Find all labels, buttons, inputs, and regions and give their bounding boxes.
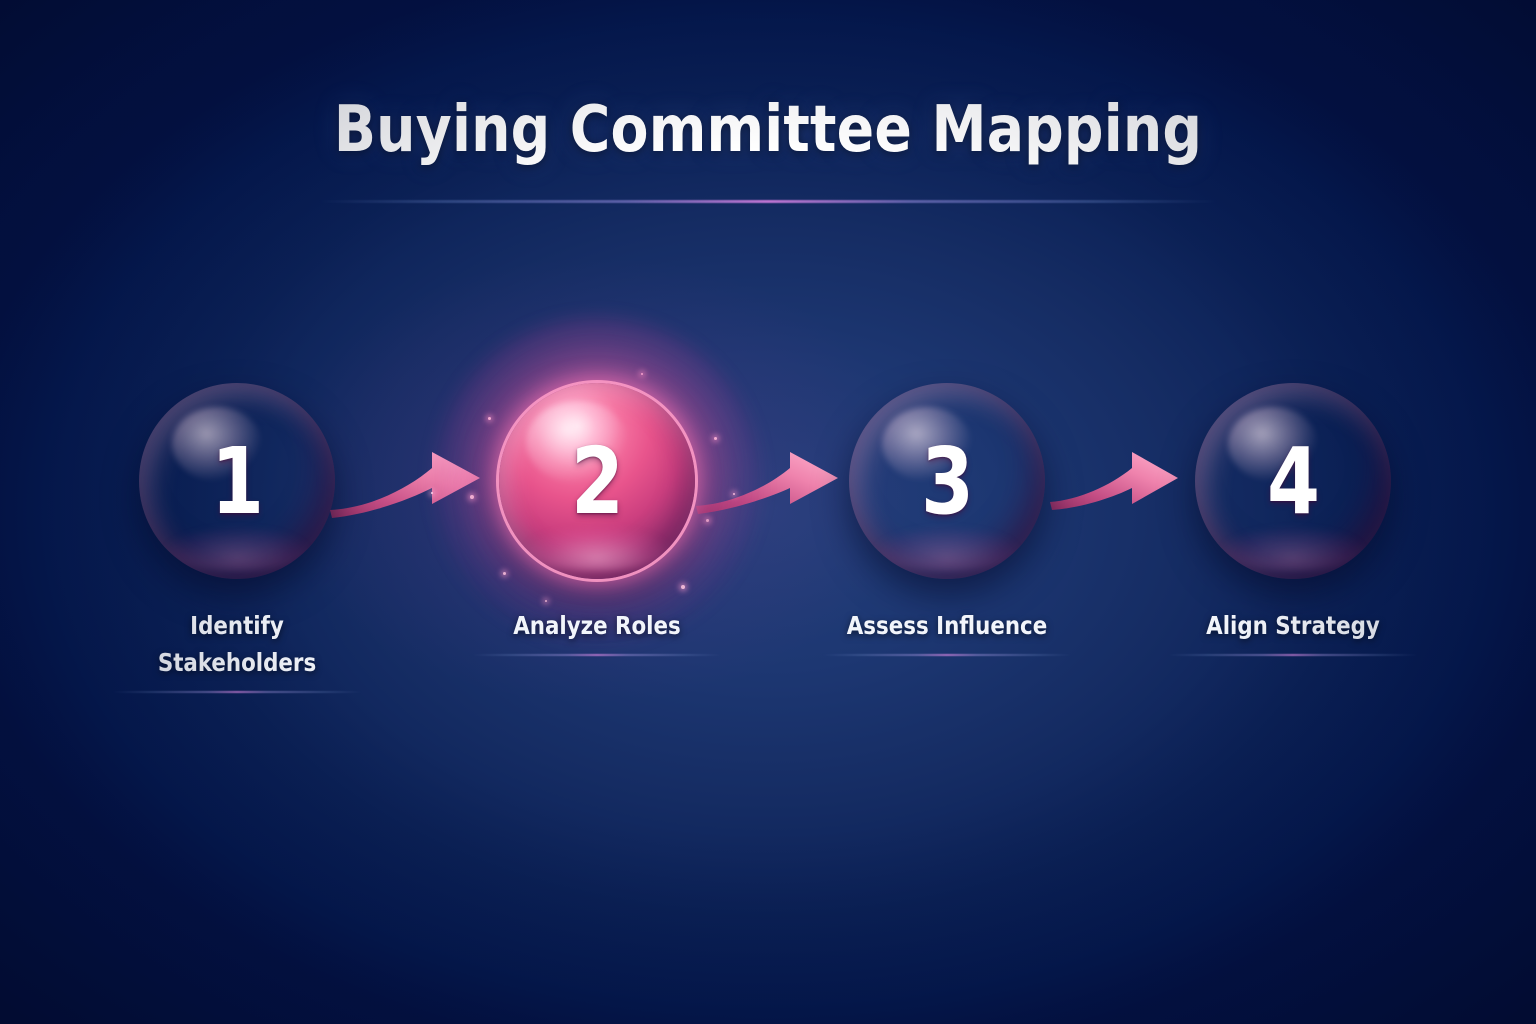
step-2-divider <box>472 654 722 656</box>
step-4-circle[interactable]: 4 <box>1195 383 1391 579</box>
step-4-node[interactable]: 4 <box>1195 383 1391 579</box>
slide-canvas: Buying Committee Mapping <box>0 0 1536 1024</box>
step-4-divider <box>1168 654 1418 656</box>
step-4-label: Align Strategy <box>1170 607 1417 644</box>
step-3-divider <box>822 654 1072 656</box>
step-3-label: Assess Influence <box>824 607 1071 644</box>
step-1-node[interactable]: 1 <box>139 383 335 579</box>
step-4[interactable]: 4 Align Strategy <box>1163 383 1423 656</box>
step-4-number: 4 <box>1203 383 1383 579</box>
step-2[interactable]: 2 Analyze Roles <box>467 383 727 656</box>
step-2-circle[interactable]: 2 <box>499 383 695 579</box>
step-1[interactable]: 1 Identify Stakeholders <box>107 383 367 693</box>
step-3-node[interactable]: 3 <box>849 383 1045 579</box>
step-1-divider <box>112 691 362 693</box>
step-2-node[interactable]: 2 <box>499 383 695 579</box>
step-2-number: 2 <box>507 383 687 579</box>
step-3-circle[interactable]: 3 <box>849 383 1045 579</box>
step-2-label: Analyze Roles <box>474 607 721 644</box>
step-3[interactable]: 3 Assess Influence <box>817 383 1077 656</box>
step-1-number: 1 <box>147 383 327 579</box>
step-3-number: 3 <box>857 383 1037 579</box>
process-steps: 1 Identify Stakeholders 2 Analyze Roles … <box>0 0 1536 1024</box>
step-1-label: Identify Stakeholders <box>114 607 361 681</box>
step-1-circle[interactable]: 1 <box>139 383 335 579</box>
